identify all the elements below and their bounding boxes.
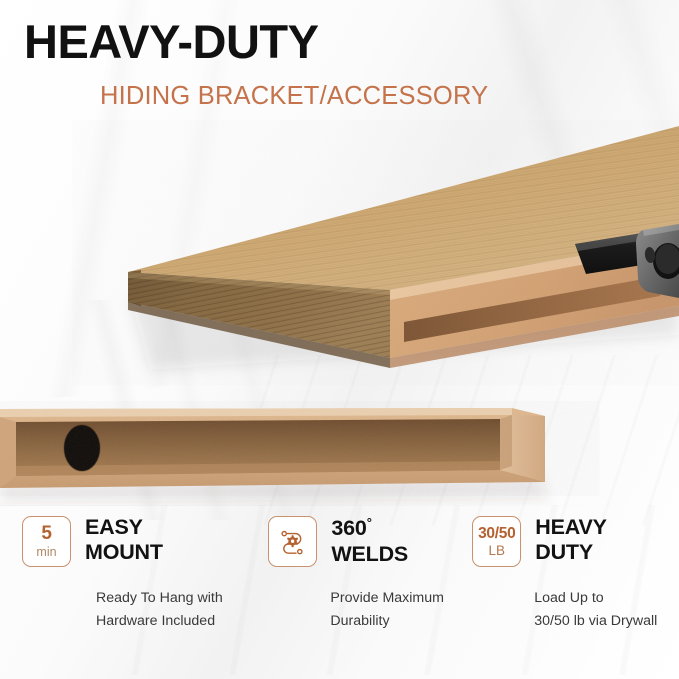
timer-badge-icon: 5 min bbox=[22, 516, 71, 567]
feature-heavy-duty: 30/50 LB HEAVY DUTY Load Up to 30/50 lb … bbox=[472, 516, 679, 679]
load-capacity-badge-icon: 30/50 LB bbox=[472, 516, 521, 567]
feature-desc-line-2: 30/50 lb via Drywall bbox=[534, 610, 679, 633]
feature-title-line-1: HEAVY bbox=[535, 515, 606, 540]
page-subtitle: HIDING BRACKET/ACCESSORY bbox=[100, 84, 488, 110]
feature-description: Load Up to 30/50 lb via Drywall bbox=[534, 587, 679, 633]
section-divider bbox=[0, 505, 679, 506]
shelf-illustration bbox=[0, 120, 679, 385]
feature-title: 360° WELDS bbox=[331, 515, 408, 567]
feature-desc-line-2: Hardware Included bbox=[96, 610, 262, 633]
feature-easy-mount: 5 min EASY MOUNT Ready To Hang with Hard… bbox=[0, 516, 262, 679]
degree-symbol: ° bbox=[367, 515, 372, 530]
badge-unit: min bbox=[36, 546, 56, 559]
feature-360-welds: 360° WELDS Provide Maximum Durability bbox=[262, 516, 472, 679]
cutaway-strip-photo bbox=[0, 380, 679, 505]
feature-desc-line-1: Provide Maximum bbox=[330, 587, 472, 610]
feature-desc-line-1: Ready To Hang with bbox=[96, 587, 262, 610]
feature-title: EASY MOUNT bbox=[85, 515, 163, 566]
product-infographic: HEAVY-DUTY HIDING BRACKET/ACCESSORY bbox=[0, 0, 679, 679]
gear-center bbox=[287, 535, 299, 547]
feature-desc-line-1: Load Up to bbox=[534, 587, 679, 610]
feature-description: Provide Maximum Durability bbox=[330, 587, 472, 633]
badge-value: 5 bbox=[41, 524, 51, 543]
feature-title: HEAVY DUTY bbox=[535, 515, 606, 566]
feature-title-line-2: MOUNT bbox=[85, 540, 163, 565]
feature-desc-line-2: Durability bbox=[330, 610, 472, 633]
feature-title-line-1: EASY bbox=[85, 515, 163, 540]
feature-description: Ready To Hang with Hardware Included bbox=[96, 587, 262, 633]
weld-path-glyph bbox=[278, 527, 308, 557]
hero-shelf-photo bbox=[0, 120, 679, 385]
feature-title-line-2: WELDS bbox=[331, 542, 408, 567]
page-title: HEAVY-DUTY bbox=[24, 18, 318, 65]
feature-title-line-1: 360° bbox=[331, 515, 408, 542]
feature-title-line-2: DUTY bbox=[535, 540, 606, 565]
weld-path-icon bbox=[268, 516, 317, 567]
badge-unit: LB bbox=[489, 544, 506, 558]
badge-value: 30/50 bbox=[478, 526, 515, 542]
feature-list: 5 min EASY MOUNT Ready To Hang with Hard… bbox=[0, 516, 679, 679]
cutaway-illustration bbox=[0, 380, 679, 505]
